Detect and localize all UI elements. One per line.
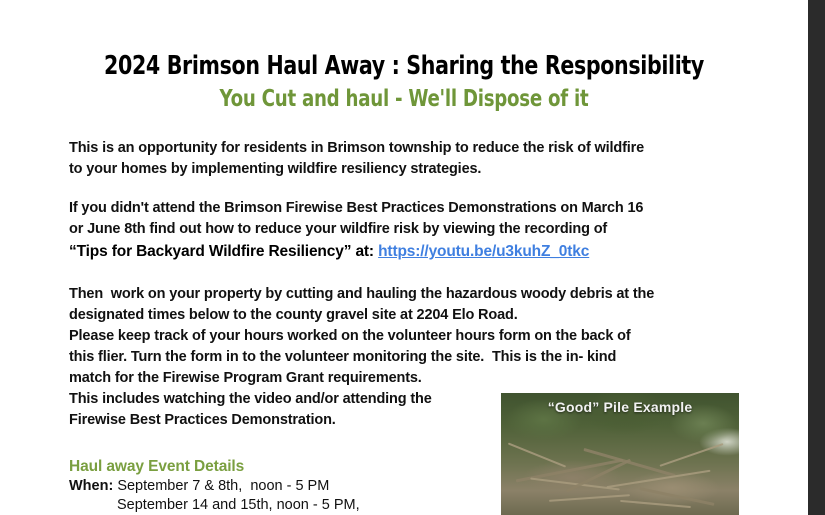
event-label: When: [69,478,113,494]
paragraph-line: match for the Firewise Program Grant req… [69,368,494,389]
paragraph-line: to your homes by implementing wildfire r… [69,159,750,180]
good-pile-photo: “Good” Pile Example [501,393,739,515]
paragraph-intro: This is an opportunity for residents in … [69,138,750,180]
event-value: September 14 and 15th, noon - 5 PM, [117,497,360,513]
photo-caption: “Good” Pile Example [501,399,739,415]
paragraph-line: This includes watching the video and/or … [69,389,494,410]
page-title: 2024 Brimson Haul Away : Sharing the Res… [48,52,759,81]
video-link-line: “Tips for Backyard Wildfire Resiliency” … [69,240,750,263]
paragraph-line: Please keep track of your hours worked o… [69,326,750,347]
event-value: September 7 & 8th, noon - 5 PM [113,478,329,494]
youtube-link[interactable]: https://youtu.be/u3kuhZ_0tkc [378,243,589,260]
paragraph-line: If you didn't attend the Brimson Firewis… [69,198,750,219]
screen-edge-band [808,0,825,515]
title-block: 2024 Brimson Haul Away : Sharing the Res… [0,0,808,112]
paragraph-recording: If you didn't attend the Brimson Firewis… [69,198,750,263]
paragraph-line: Firewise Best Practices Demonstration. [69,410,494,431]
page-subtitle: You Cut and haul - We'll Dispose of it [48,87,759,112]
video-title-text: “Tips for Backyard Wildfire Resiliency” … [69,243,378,260]
paragraph-line: this flier. Turn the form in to the volu… [69,347,750,368]
flier-page: 2024 Brimson Haul Away : Sharing the Res… [0,0,825,515]
paragraph-line: This is an opportunity for residents in … [69,138,750,159]
document-canvas: 2024 Brimson Haul Away : Sharing the Res… [0,0,808,515]
paragraph-line: Then work on your property by cutting an… [69,284,750,305]
paragraph-line: designated times below to the county gra… [69,305,750,326]
paragraph-line: or June 8th find out how to reduce your … [69,219,750,240]
